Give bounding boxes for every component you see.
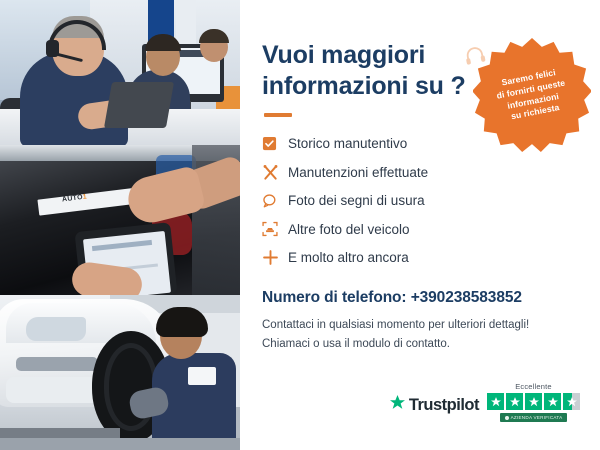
car-frame-icon xyxy=(262,221,288,237)
list-item: Foto dei segni di usura xyxy=(262,188,578,213)
list-item-label: Foto dei segni di usura xyxy=(288,193,425,208)
list-item: Altre foto del veicolo xyxy=(262,217,578,242)
trustpilot-widget[interactable]: Trustpilot Eccellente AZIENDA VERIFICATA xyxy=(389,382,580,422)
list-item-label: E molto altro ancora xyxy=(288,250,409,265)
promo-banner: AUTO1 xyxy=(0,0,600,450)
list-item-label: Altre foto del veicolo xyxy=(288,222,410,237)
star-half-5 xyxy=(563,393,580,410)
photo-column: AUTO1 xyxy=(0,0,240,450)
verified-badge: AZIENDA VERIFICATA xyxy=(500,413,568,422)
tablet-scan-photo: AUTO1 xyxy=(0,145,240,295)
verified-badge-label: AZIENDA VERIFICATA xyxy=(511,415,563,420)
contact-instructions: Contattaci in qualsiasi momento per ulte… xyxy=(262,316,578,353)
badge-text: Saremo felici di fornirti queste informa… xyxy=(494,66,571,124)
star-filled-4 xyxy=(544,393,561,410)
floor-shape xyxy=(0,438,240,450)
call-center-photo xyxy=(0,0,240,145)
poster-shape xyxy=(176,0,196,48)
star-filled-1 xyxy=(487,393,504,410)
star-filled-3 xyxy=(525,393,542,410)
list-item-label: Manutenzioni effettuate xyxy=(288,165,428,180)
magnifier-icon xyxy=(262,193,288,209)
badge-content: Saremo felici di fornirti queste informa… xyxy=(463,26,600,164)
grille-shape xyxy=(16,357,98,371)
page-title-line-2: informazioni su ? xyxy=(262,72,466,100)
sticker-text-accent: 1 xyxy=(82,193,87,200)
content-panel: Vuoi maggiori informazioni su ? Storico … xyxy=(240,0,600,450)
page-title: Vuoi maggiori informazioni su ? xyxy=(262,40,477,101)
plus-icon xyxy=(262,249,288,266)
trustpilot-wordmark: Trustpilot xyxy=(409,396,479,415)
tools-cross-icon xyxy=(262,164,288,181)
laptop-shape xyxy=(104,82,174,128)
trustpilot-rating: Eccellente AZIENDA VERIFICATA xyxy=(487,382,580,422)
trustpilot-logo: Trustpilot xyxy=(389,394,479,422)
title-divider xyxy=(264,113,292,117)
phone-number[interactable]: Numero di telefono: +390238583852 xyxy=(262,289,578,307)
contact-line-1: Contattaci in qualsiasi momento per ulte… xyxy=(262,316,578,335)
contact-line-2: Chiamaci o usa il modulo di contatto. xyxy=(262,335,578,354)
verified-check-icon xyxy=(505,416,509,420)
mechanic-hair-shape xyxy=(156,307,208,337)
star-filled-2 xyxy=(506,393,523,410)
trustpilot-star-icon xyxy=(389,394,406,416)
callout-badge: Saremo felici di fornirti queste informa… xyxy=(473,36,591,154)
star-rating xyxy=(487,393,580,410)
list-item: Manutenzioni effettuate xyxy=(262,160,578,185)
mechanic-wheel-photo xyxy=(0,295,240,450)
tire-tread-shape xyxy=(104,343,158,431)
headlight-shape xyxy=(26,317,86,341)
rating-label: Eccellente xyxy=(515,382,552,391)
page-title-line-1: Vuoi maggiori xyxy=(262,41,425,69)
checkbox-icon xyxy=(262,136,288,151)
list-item: E molto altro ancora xyxy=(262,245,578,270)
list-item-label: Storico manutentivo xyxy=(288,136,407,151)
uniform-badge-shape xyxy=(188,367,216,385)
